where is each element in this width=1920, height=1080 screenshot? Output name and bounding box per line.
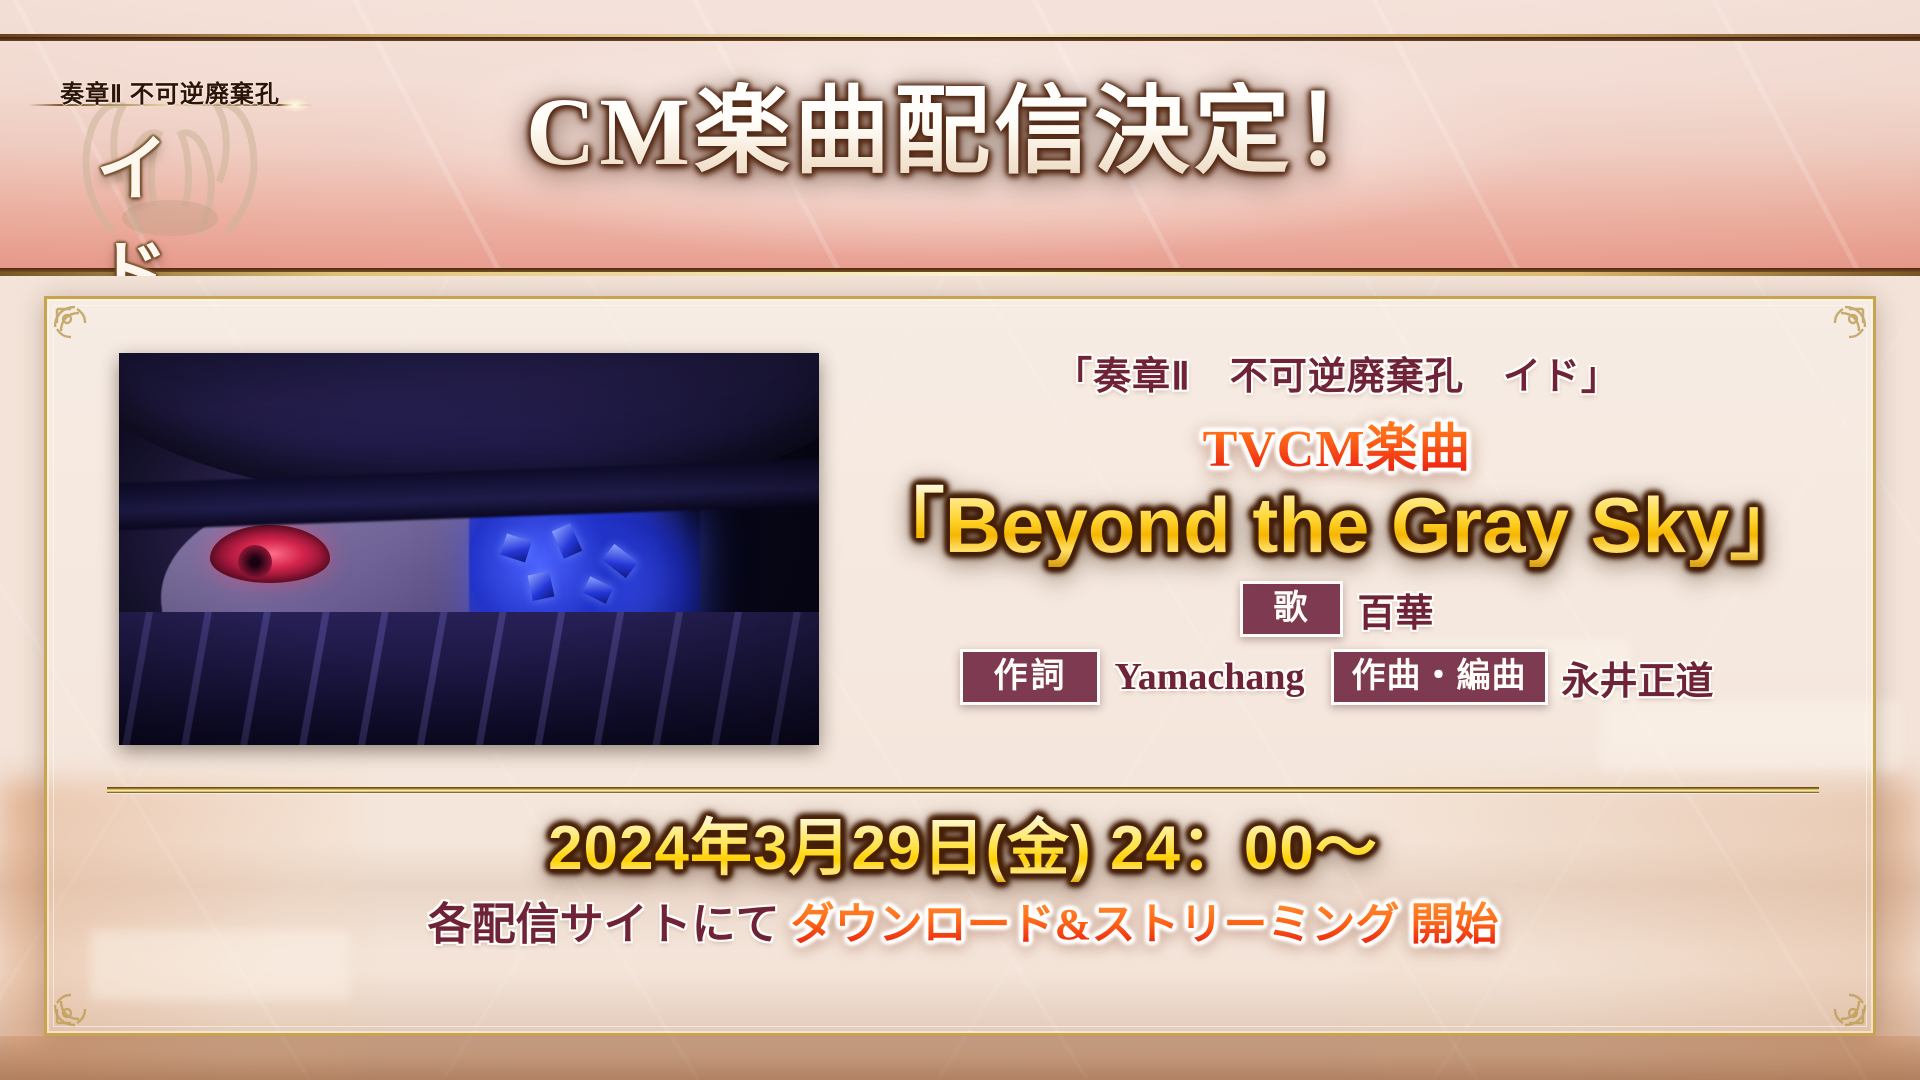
content-panel: 「奏章Ⅱ 不可逆廃棄孔 イド」 TVCM楽曲 「Beyond the Gray … — [44, 296, 1876, 1036]
section-divider — [107, 787, 1819, 793]
promo-banner: イド 奏章Ⅱ 不可逆廃棄孔 CM楽曲配信決定！ — [0, 0, 1920, 1080]
credit-row-staff: 作詞 Yamachang 作曲・編曲 永井正道 — [847, 649, 1827, 705]
release-note-highlight: ダウンロード&ストリーミング — [791, 900, 1400, 949]
bottom-edge-band — [0, 1036, 1920, 1080]
release-date: 2024年3月29日(金) 24：00〜 — [47, 815, 1876, 883]
credit-person-name: 永井正道 — [1562, 650, 1714, 705]
song-title: 「Beyond the Gray Sky」 — [847, 483, 1827, 567]
release-note-prefix: 各配信サイトにて — [428, 900, 780, 949]
credit-row-vocal: 歌 百華 — [847, 581, 1827, 637]
page-title: CM楽曲配信決定！ — [0, 82, 1920, 183]
credit-role-badge: 歌 — [1240, 581, 1343, 637]
release-info: 2024年3月29日(金) 24：00〜 各配信サイトにて ダウンロード&ストリ… — [47, 815, 1876, 951]
credit-item: 作曲・編曲 永井正道 — [1331, 649, 1714, 705]
release-note: 各配信サイトにて ダウンロード&ストリーミング 開始 — [47, 899, 1876, 951]
credit-person-name: Yamachang — [1114, 655, 1304, 699]
header-band: イド 奏章Ⅱ 不可逆廃棄孔 CM楽曲配信決定！ — [0, 0, 1920, 276]
song-kind-label: TVCM楽曲 — [847, 406, 1827, 481]
corner-filigree-icon — [1805, 965, 1869, 1029]
credit-item: 歌 百華 — [1240, 581, 1433, 637]
credit-role-badge: 作曲・編曲 — [1331, 649, 1548, 705]
credit-person-name: 百華 — [1357, 582, 1433, 637]
release-note-suffix: 開始 — [1410, 900, 1498, 949]
key-visual-vignette — [119, 353, 819, 745]
corner-filigree-icon — [51, 303, 115, 367]
credit-item: 作詞 Yamachang — [960, 649, 1304, 705]
key-visual-image — [119, 353, 819, 745]
header-rule-top-shadow — [0, 37, 1920, 41]
work-title: 「奏章Ⅱ 不可逆廃棄孔 イド」 — [847, 345, 1827, 400]
corner-filigree-icon — [51, 965, 115, 1029]
credit-role-badge: 作詞 — [960, 649, 1100, 705]
header-rule-bottom — [0, 272, 1920, 276]
song-info-column: 「奏章Ⅱ 不可逆廃棄孔 イド」 TVCM楽曲 「Beyond the Gray … — [847, 345, 1827, 705]
